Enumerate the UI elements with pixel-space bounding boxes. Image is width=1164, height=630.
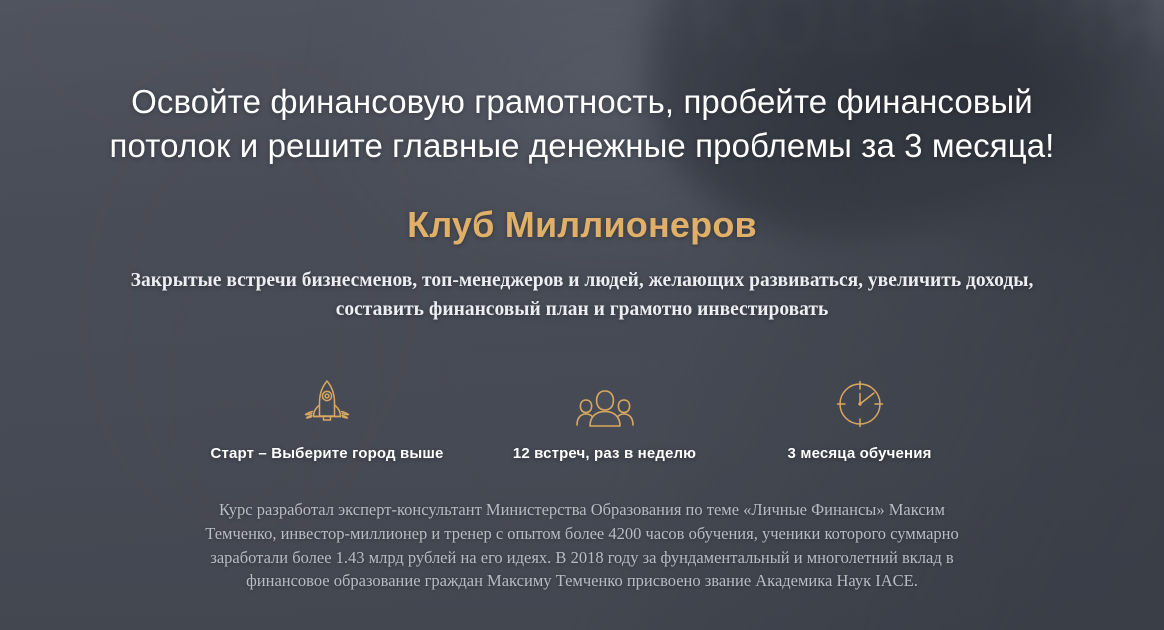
page-title: Освойте финансовую грамотность, пробейте… [82,80,1082,168]
rocket-icon [299,373,355,431]
feature-label: 3 месяца обучения [788,445,932,462]
feature-label: Старт – Выберите город выше [211,445,444,462]
hero-subtitle: Закрытые встречи бизнесменов, топ-менедж… [117,267,1047,324]
hero-footnote: Курс разработал эксперт-консультант Мини… [182,498,982,592]
hero-section: КОВЕРИЯ Освойте финансовую грамотность, … [0,0,1164,630]
feature-item-start: Старт – Выберите город выше [177,373,477,462]
clock-icon [833,373,887,431]
hero-content: Освойте финансовую грамотность, пробейте… [0,0,1164,630]
club-title: Клуб Миллионеров [0,204,1164,246]
feature-item-meetings: 12 встреч, раз в неделю [477,373,732,462]
people-group-icon [569,373,641,431]
feature-label: 12 встреч, раз в неделю [513,445,696,462]
feature-item-duration: 3 месяца обучения [732,373,987,462]
feature-list: Старт – Выберите город выше [0,373,1164,462]
